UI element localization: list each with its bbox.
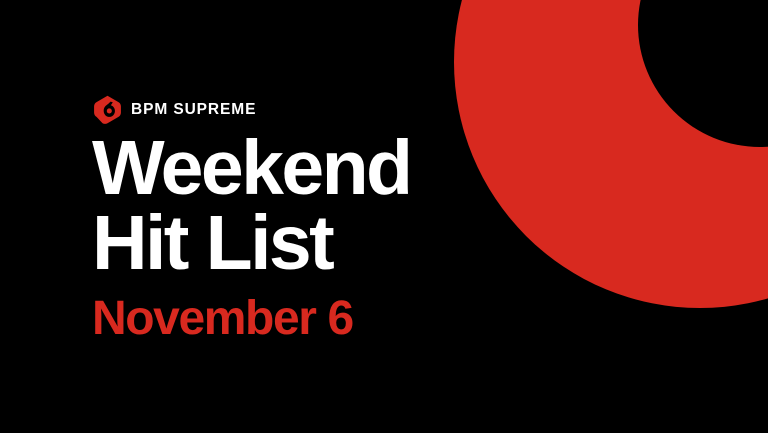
brand-lockup: BPM SUPREME <box>93 94 256 124</box>
headline-line-2: Hit List <box>92 206 522 281</box>
bpm-supreme-hexagon-logo-icon <box>93 95 122 124</box>
date-subheading: November 6 <box>92 295 522 343</box>
poster-canvas: BPM SUPREME Weekend Hit List November 6 <box>0 0 768 433</box>
headline-block: Weekend Hit List November 6 <box>92 131 522 343</box>
brand-name-text: BPM SUPREME <box>131 101 256 118</box>
headline-line-1: Weekend <box>92 131 522 206</box>
